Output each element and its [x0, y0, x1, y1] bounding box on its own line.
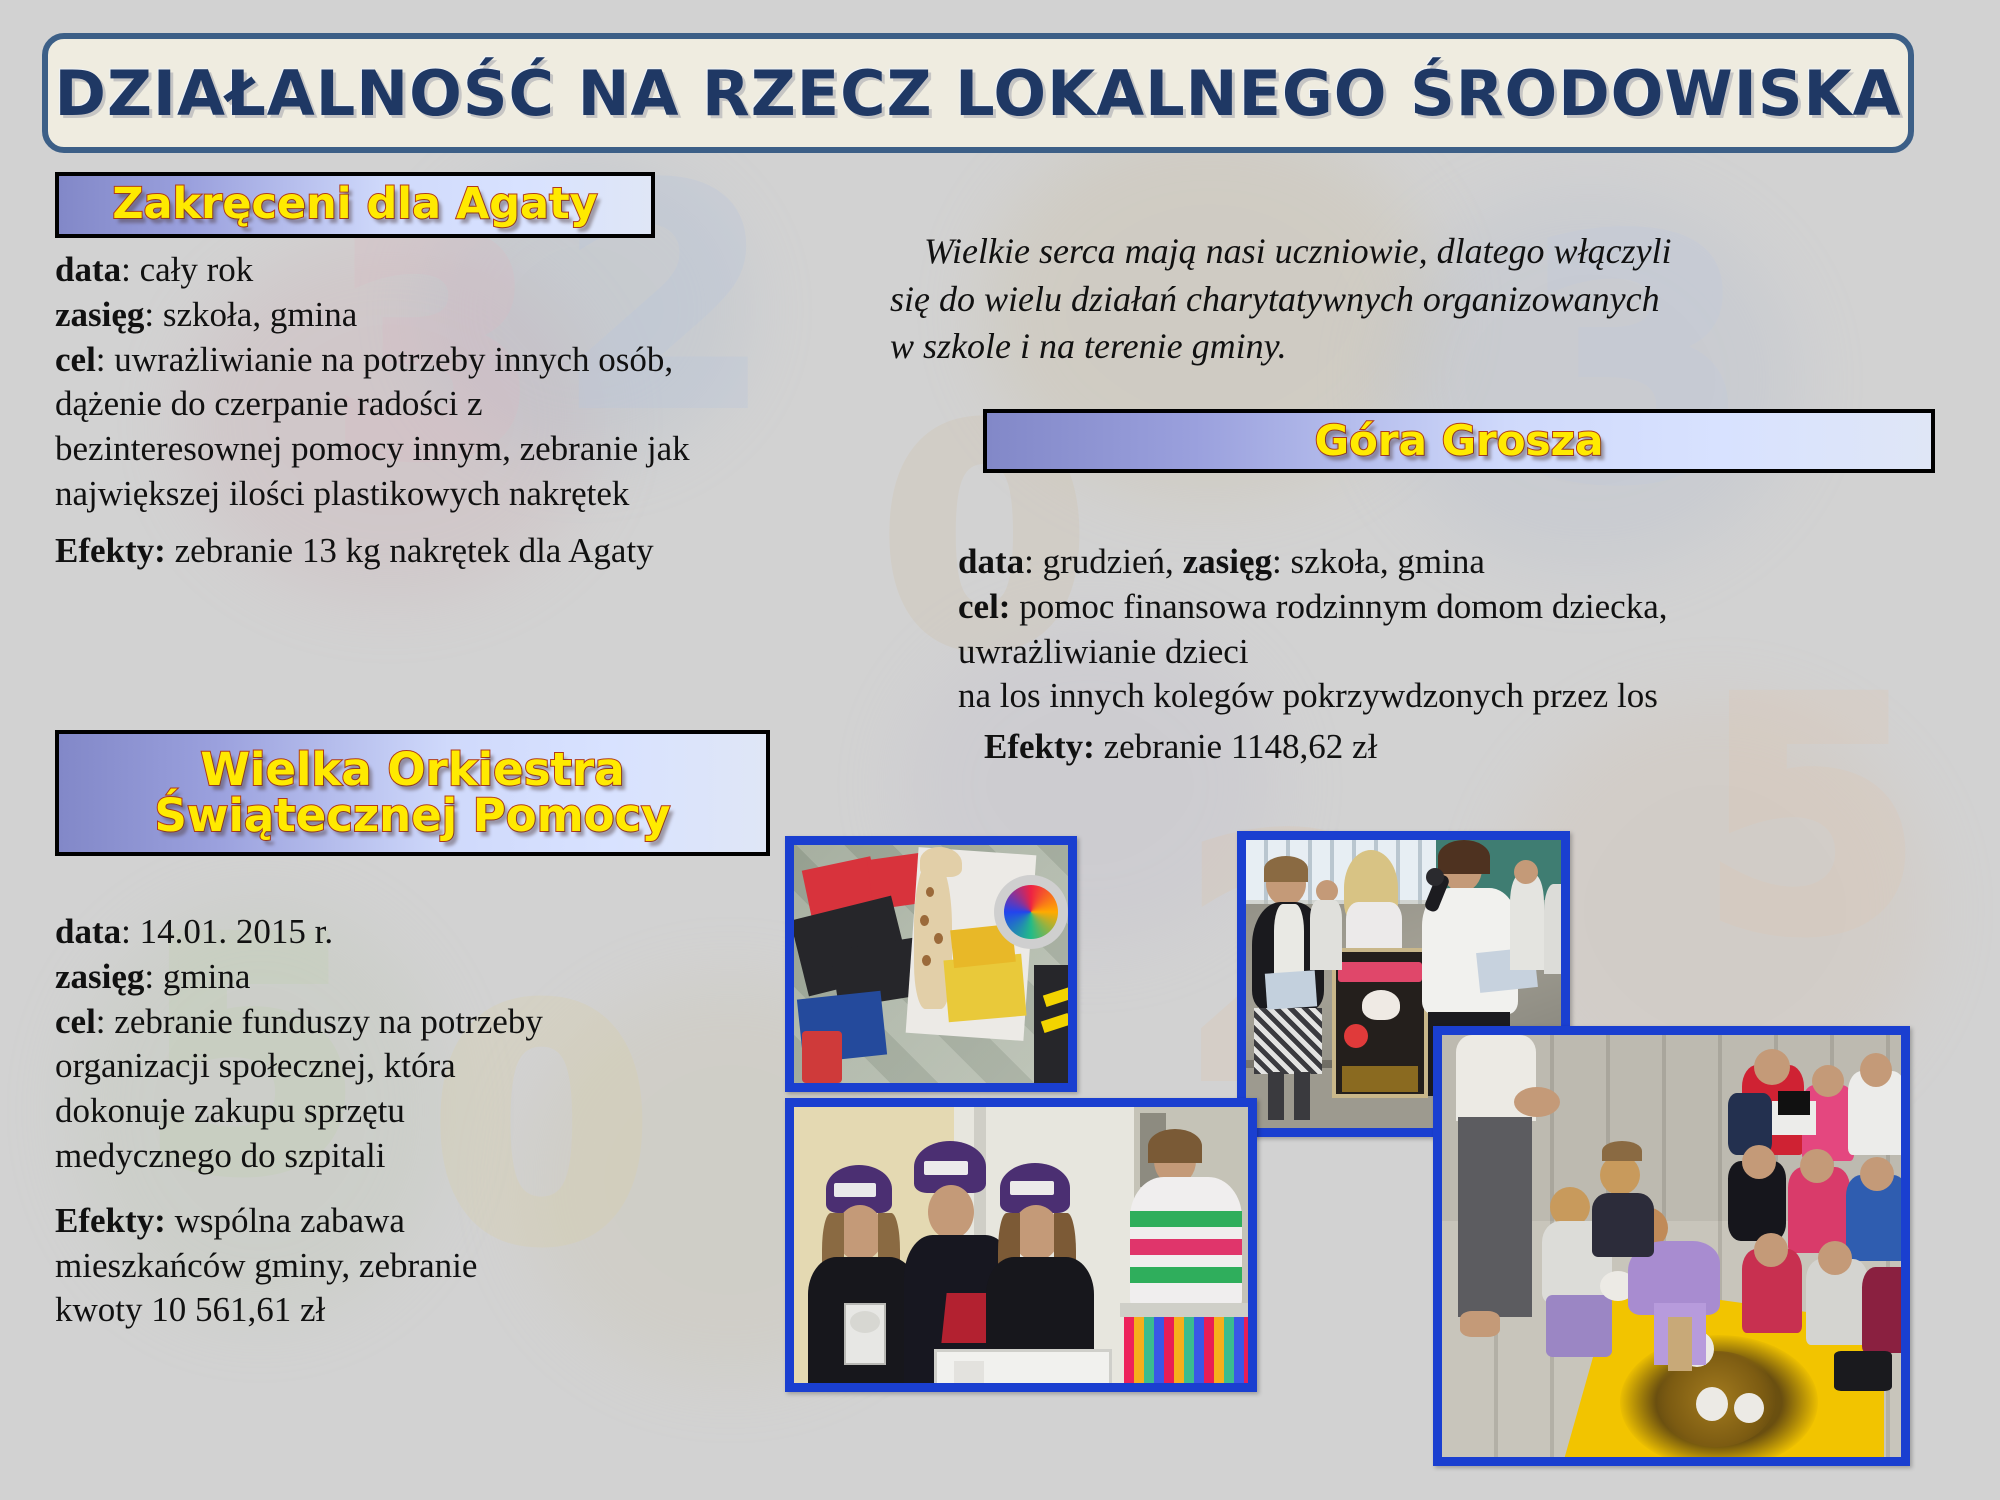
field-cel-cont-3: największej ilości plastikowych nakrętek [55, 472, 915, 517]
field-cel: cel: pomoc finansowa rodzinnym domom dzi… [958, 585, 1968, 630]
section-banner-zakreceni-label: Zakręceni dla Agaty [112, 183, 597, 227]
section-banner-woscp: Wielka Orkiestra Świątecznej Pomocy [55, 730, 770, 856]
field-data-label: data [958, 542, 1024, 581]
field-efekty: Efekty: zebranie 13 kg nakrętek dla Agat… [55, 529, 915, 574]
field-cel-value: zebranie funduszy na potrzeby [114, 1002, 543, 1041]
field-data-label: data [55, 912, 121, 951]
field-efekty-label: Efekty: [984, 727, 1095, 766]
field-efekty-value: zebranie 13 kg nakrętek dla Agaty [166, 531, 654, 570]
intro-paragraph: Wielkie serca mają nasi uczniowie, dlate… [890, 228, 1950, 371]
field-zasieg-sep: : [144, 957, 162, 996]
photo-wosp-items [785, 836, 1077, 1092]
page-title: DZIAŁALNOŚĆ NA RZECZ LOKALNEGO ŚRODOWISK… [54, 57, 1901, 130]
field-zasieg-value: szkoła, gmina [163, 295, 357, 334]
field-zasieg: zasięg: szkoła, gmina [55, 293, 915, 338]
field-cel-label: cel [55, 340, 96, 379]
page-title-bar: DZIAŁALNOŚĆ NA RZECZ LOKALNEGO ŚRODOWISK… [42, 33, 1914, 153]
field-data-sep: : [121, 250, 139, 289]
section-banner-gora-grosza-label: Góra Grosza [1315, 420, 1604, 463]
section-body-woscp: data: 14.01. 2015 r. zasięg: gmina cel: … [55, 910, 775, 1333]
field-cel-cont-1: dążenie do czerpanie radości z [55, 382, 915, 427]
field-efekty-value: wspólna zabawa [166, 1201, 405, 1240]
field-data-zasieg: data: grudzień, zasięg: szkoła, gmina [958, 540, 1968, 585]
section-banner-gora-grosza: Góra Grosza [983, 409, 1935, 473]
field-efekty-label: Efekty: [55, 531, 166, 570]
section-body-zakreceni: data: cały rok zasięg: szkoła, gmina cel… [55, 248, 915, 574]
field-data-value: cały rok [140, 250, 254, 289]
field-cel-sep: : [96, 1002, 114, 1041]
section-banner-zakreceni: Zakręceni dla Agaty [55, 172, 655, 238]
field-data-sep: : [121, 912, 139, 951]
field-cel-cont-1: uwrażliwianie dzieci [958, 630, 1968, 675]
field-efekty-value: zebranie 1148,62 zł [1095, 727, 1377, 766]
section-body-gora-grosza: data: grudzień, zasięg: szkoła, gmina ce… [958, 540, 1968, 770]
field-efekty-label: Efekty: [55, 1201, 166, 1240]
field-zasieg-label: zasięg [1183, 542, 1272, 581]
field-zasieg-value: : szkoła, gmina [1272, 542, 1485, 581]
field-efekty-line-3: kwoty 10 561,61 zł [55, 1288, 775, 1333]
field-efekty: Efekty: zebranie 1148,62 zł [958, 719, 1968, 770]
field-cel-cont-3: medycznego do szpitali [55, 1134, 775, 1179]
photo-gora-coins [1433, 1026, 1910, 1466]
intro-line-2: się do wielu działań charytatywnych orga… [890, 276, 1950, 324]
field-cel-cont-1: organizacji społecznej, która [55, 1044, 775, 1089]
field-cel-cont-2: na los innych kolegów pokrzywdzonych prz… [958, 674, 1968, 719]
field-cel: cel: zebranie funduszy na potrzeby [55, 1000, 775, 1045]
field-efekty-line-2: mieszkańców gminy, zebranie [55, 1244, 775, 1289]
spacer [55, 517, 915, 529]
section-banner-woscp-label: Wielka Orkiestra Świątecznej Pomocy [154, 747, 670, 839]
field-cel-label: cel: [958, 587, 1010, 626]
field-zasieg: zasięg: gmina [55, 955, 775, 1000]
field-cel-value: uwrażliwianie na potrzeby innych osób, [114, 340, 673, 379]
intro-line-1: Wielkie serca mają nasi uczniowie, dlate… [890, 228, 1950, 276]
field-cel-label: cel [55, 1002, 96, 1041]
field-cel-cont-2: dokonuje zakupu sprzętu [55, 1089, 775, 1134]
field-data-value: : grudzień, [1024, 542, 1182, 581]
field-data: data: 14.01. 2015 r. [55, 910, 775, 955]
field-cel-cont-2: bezinteresownej pomocy innym, zebranie j… [55, 427, 915, 472]
photo-wosp-group [785, 1098, 1257, 1392]
intro-line-3: w szkole i na terenie gminy. [890, 323, 1950, 371]
field-data-label: data [55, 250, 121, 289]
photo-wosp-items-content [794, 845, 1068, 1083]
photo-wosp-group-content [794, 1107, 1248, 1383]
field-zasieg-value: gmina [163, 957, 250, 996]
field-cel: cel: uwrażliwianie na potrzeby innych os… [55, 338, 915, 383]
field-cel-value: pomoc finansowa rodzinnym domom dziecka, [1010, 587, 1667, 626]
photo-gora-coins-content [1442, 1035, 1901, 1457]
spacer [55, 1179, 775, 1199]
field-zasieg-sep: : [144, 295, 162, 334]
field-zasieg-label: zasięg [55, 957, 144, 996]
field-efekty: Efekty: wspólna zabawa [55, 1199, 775, 1244]
field-data-value: 14.01. 2015 r. [140, 912, 333, 951]
field-cel-sep: : [96, 340, 114, 379]
field-zasieg-label: zasięg [55, 295, 144, 334]
field-data: data: cały rok [55, 248, 915, 293]
